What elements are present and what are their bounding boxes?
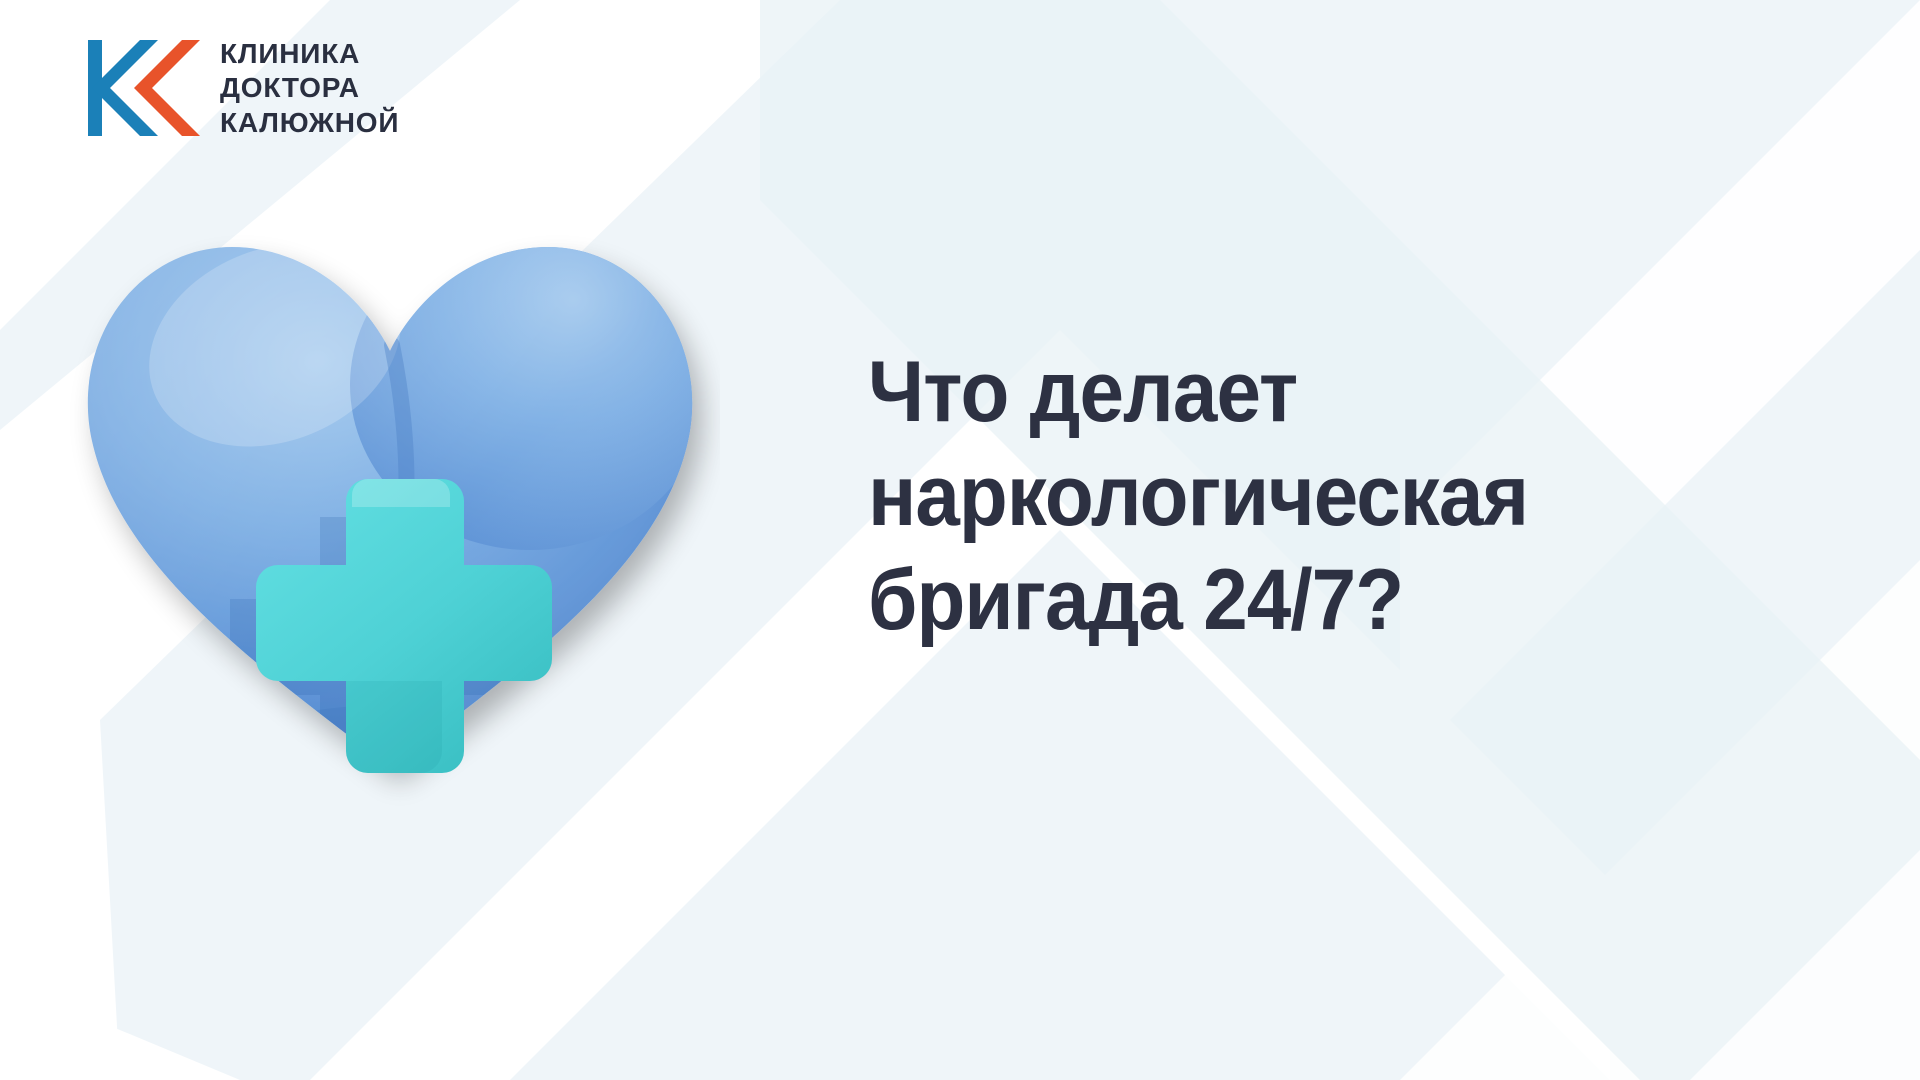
bg-chevron-bottomright: [1690, 850, 1920, 1080]
brand-logo-text: КЛИНИКА ДОКТОРА КАЛЮЖНОЙ: [220, 37, 399, 138]
heart-illustration: [60, 195, 720, 815]
logo-line-2: ДОКТОРА: [220, 71, 399, 104]
headline: Что делает наркологическая бригада 24/7?: [868, 340, 1868, 652]
kk-monogram-icon: [88, 36, 200, 140]
headline-line-3: бригада 24/7?: [868, 548, 1798, 652]
logo-line-1: КЛИНИКА: [220, 37, 399, 70]
headline-line-1: Что делает: [868, 340, 1798, 444]
slide-canvas: КЛИНИКА ДОКТОРА КАЛЮЖНОЙ: [0, 0, 1920, 1080]
cross-bottom-shade: [346, 681, 442, 773]
bg-chevron-bottomleft: [0, 980, 240, 1080]
brand-logo[interactable]: КЛИНИКА ДОКТОРА КАЛЮЖНОЙ: [88, 36, 399, 140]
logo-line-3: КАЛЮЖНОЙ: [220, 106, 399, 139]
headline-line-2: наркологическая: [868, 444, 1798, 548]
cross-top-highlight: [352, 479, 450, 507]
